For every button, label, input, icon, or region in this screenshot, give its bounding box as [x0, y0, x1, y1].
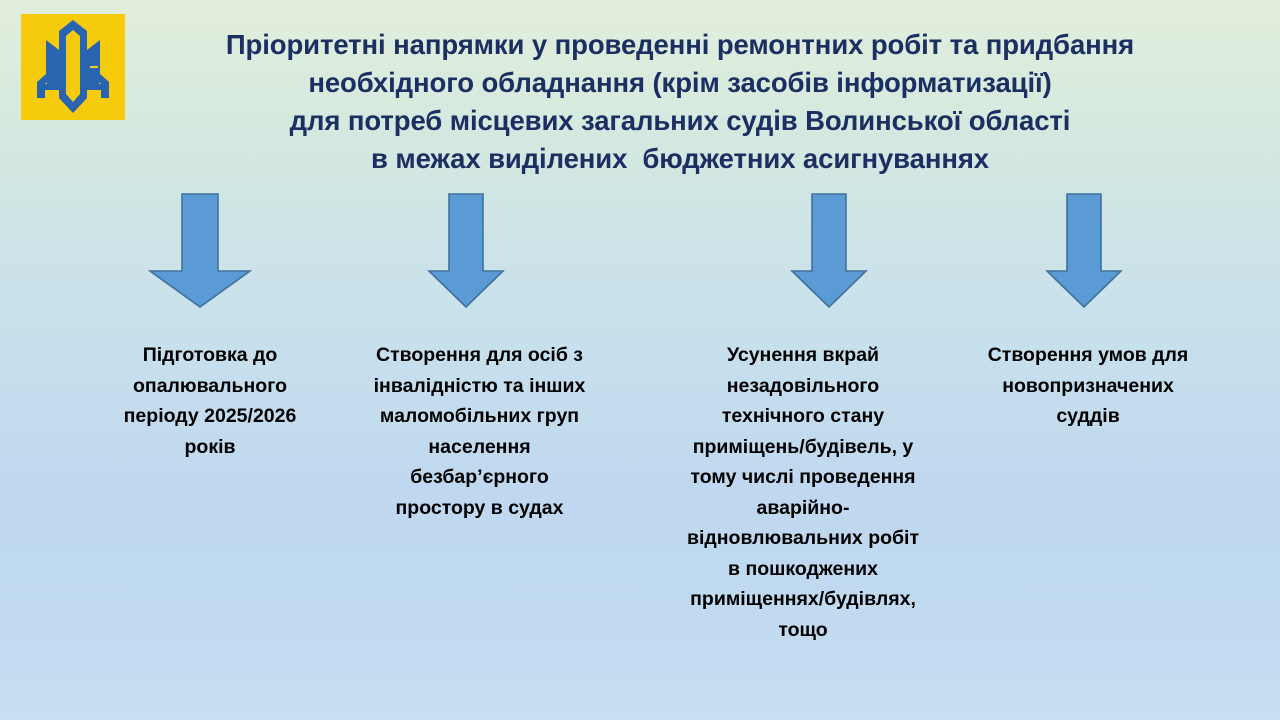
title-line-2: необхідного обладнання (крім засобів інф… [150, 64, 1210, 102]
slide-title: Пріоритетні напрямки у проведенні ремонт… [150, 26, 1210, 178]
presentation-slide: Пріоритетні напрямки у проведенні ремонт… [0, 0, 1280, 720]
col2-line-3: маломобільних груп [352, 401, 607, 432]
col3-line-8: в пошкоджених [662, 554, 944, 585]
col3-line-4: приміщень/будівель, у [662, 432, 944, 463]
col2-line-2: інвалідністю та інших [352, 371, 607, 402]
col2-line-6: простору в судах [352, 493, 607, 524]
col2-line-1: Створення для осіб з [352, 340, 607, 371]
dsa-trident-icon [21, 14, 125, 120]
down-arrow-icon-1 [145, 193, 255, 309]
col3-line-2: незадовільного [662, 371, 944, 402]
priority-column-1: Підготовка до опалювального періоду 2025… [104, 340, 316, 462]
col3-line-3: технічного стану [662, 401, 944, 432]
col1-line-4: років [104, 432, 316, 463]
down-arrow-icon-2 [427, 193, 505, 309]
down-arrow-icon-3 [790, 193, 868, 309]
col4-line-3: суддів [950, 401, 1226, 432]
col3-line-10: тощо [662, 615, 944, 646]
priority-column-2: Створення для осіб з інвалідністю та інш… [352, 340, 607, 523]
down-arrow-icon-4 [1045, 193, 1123, 309]
col3-line-6: аварійно- [662, 493, 944, 524]
title-line-3: для потреб місцевих загальних судів Воли… [150, 102, 1210, 140]
title-line-1: Пріоритетні напрямки у проведенні ремонт… [150, 26, 1210, 64]
col1-line-2: опалювального [104, 371, 316, 402]
col3-line-5: тому числі проведення [662, 462, 944, 493]
col3-line-1: Усунення вкрай [662, 340, 944, 371]
col2-line-5: безбар’єрного [352, 462, 607, 493]
col3-line-7: відновлювальних робіт [662, 523, 944, 554]
title-line-4: в межах виділених бюджетних асигнуваннях [150, 140, 1210, 178]
dsa-logo [21, 14, 125, 120]
col3-line-9: приміщеннях/будівлях, [662, 584, 944, 615]
col4-line-1: Створення умов для [950, 340, 1226, 371]
col1-line-3: періоду 2025/2026 [104, 401, 316, 432]
col4-line-2: новопризначених [950, 371, 1226, 402]
priority-column-3: Усунення вкрай незадовільного технічного… [662, 340, 944, 645]
col2-line-4: населення [352, 432, 607, 463]
priority-column-4: Створення умов для новопризначених судді… [950, 340, 1226, 432]
col1-line-1: Підготовка до [104, 340, 316, 371]
